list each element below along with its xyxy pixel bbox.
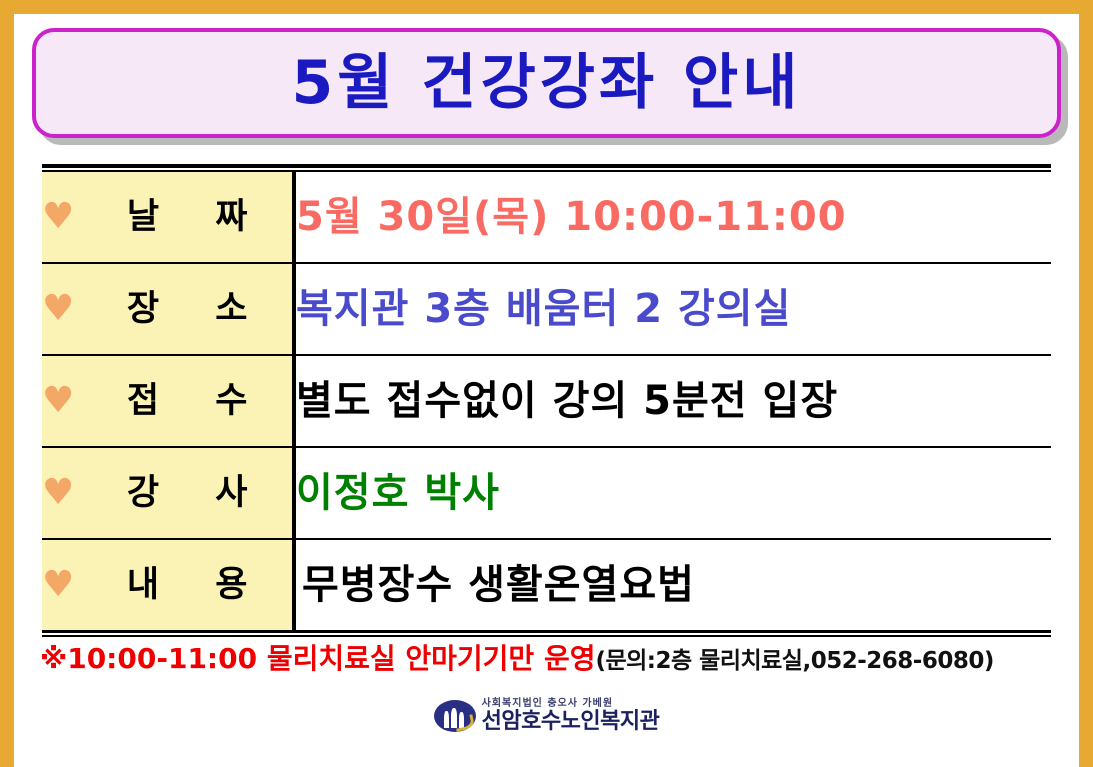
page-title: 5월 건강강좌 안내 (292, 53, 802, 113)
info-table: ♥ 날 짜 5월 30일(목) 10:00-11:00 ♥ (42, 172, 1051, 630)
row-value-cell-place: 복지관 3층 배움터 2 강의실 (294, 263, 1051, 355)
table-top-rule (42, 164, 1051, 172)
row-value-date: 5월 30일(목) 10:00-11:00 (296, 194, 847, 240)
logo-title: 선암호수노인복지관 (482, 711, 660, 733)
footer-note: ※10:00-11:00 물리치료실 안마기기만 운영(문의:2층 물리치료실,… (40, 645, 1051, 673)
row-value-cell-lecturer: 이정호 박사 (294, 447, 1051, 539)
logo-subtitle: 사회복지법인 충오사 가베원 (482, 699, 613, 709)
row-label-registration: 접 수 (90, 384, 292, 419)
row-label-lecturer: 강 사 (90, 476, 292, 511)
footer-note-main: ※10:00-11:00 물리치료실 안마기기만 운영 (40, 642, 595, 675)
row-label-cell-lecturer: ♥ 강 사 (42, 447, 294, 539)
row-label-cell-date: ♥ 날 짜 (42, 172, 294, 263)
title-banner: 5월 건강강좌 안내 (32, 28, 1061, 138)
row-label-cell-place: ♥ 장 소 (42, 263, 294, 355)
heart-icon: ♥ (42, 567, 74, 603)
heart-icon: ♥ (42, 383, 74, 419)
table-row: ♥ 날 짜 5월 30일(목) 10:00-11:00 (42, 172, 1051, 263)
row-value-lecturer: 이정호 박사 (296, 470, 500, 516)
poster-inner: 5월 건강강좌 안내 ♥ 날 짜 5월 30일(목 (14, 28, 1079, 767)
poster-frame: 5월 건강강좌 안내 ♥ 날 짜 5월 30일(목 (0, 0, 1093, 767)
heart-icon: ♥ (42, 475, 74, 511)
row-label-topic: 내 용 (90, 568, 292, 603)
organization-logo: 사회복지법인 충오사 가베원 선암호수노인복지관 (14, 699, 1079, 733)
row-value-cell-topic: 무병장수 생활온열요법 (294, 539, 1051, 630)
info-table-wrap: ♥ 날 짜 5월 30일(목) 10:00-11:00 ♥ (42, 164, 1051, 637)
row-value-registration: 별도 접수없이 강의 5분전 입장 (296, 378, 838, 424)
row-label-cell-registration: ♥ 접 수 (42, 355, 294, 447)
table-row: ♥ 장 소 복지관 3층 배움터 2 강의실 (42, 263, 1051, 355)
logo-text-block: 사회복지법인 충오사 가베원 선암호수노인복지관 (482, 699, 660, 733)
footer-note-contact: (문의:2층 물리치료실,052-268-6080) (595, 648, 993, 674)
row-value-place: 복지관 3층 배움터 2 강의실 (296, 286, 791, 332)
heart-icon: ♥ (42, 199, 74, 235)
row-value-cell-registration: 별도 접수없이 강의 5분전 입장 (294, 355, 1051, 447)
table-row: ♥ 내 용 무병장수 생활온열요법 (42, 539, 1051, 630)
row-value-topic: 무병장수 생활온열요법 (296, 565, 695, 605)
row-label-place: 장 소 (90, 292, 292, 327)
row-label-date: 날 짜 (90, 200, 292, 235)
row-label-cell-topic: ♥ 내 용 (42, 539, 294, 630)
heart-icon: ♥ (42, 291, 74, 327)
table-row: ♥ 강 사 이정호 박사 (42, 447, 1051, 539)
welfare-center-logo-icon (434, 700, 476, 732)
table-row: ♥ 접 수 별도 접수없이 강의 5분전 입장 (42, 355, 1051, 447)
table-bottom-rule (42, 630, 1051, 637)
title-box: 5월 건강강좌 안내 (32, 28, 1061, 138)
row-value-cell-date: 5월 30일(목) 10:00-11:00 (294, 172, 1051, 263)
